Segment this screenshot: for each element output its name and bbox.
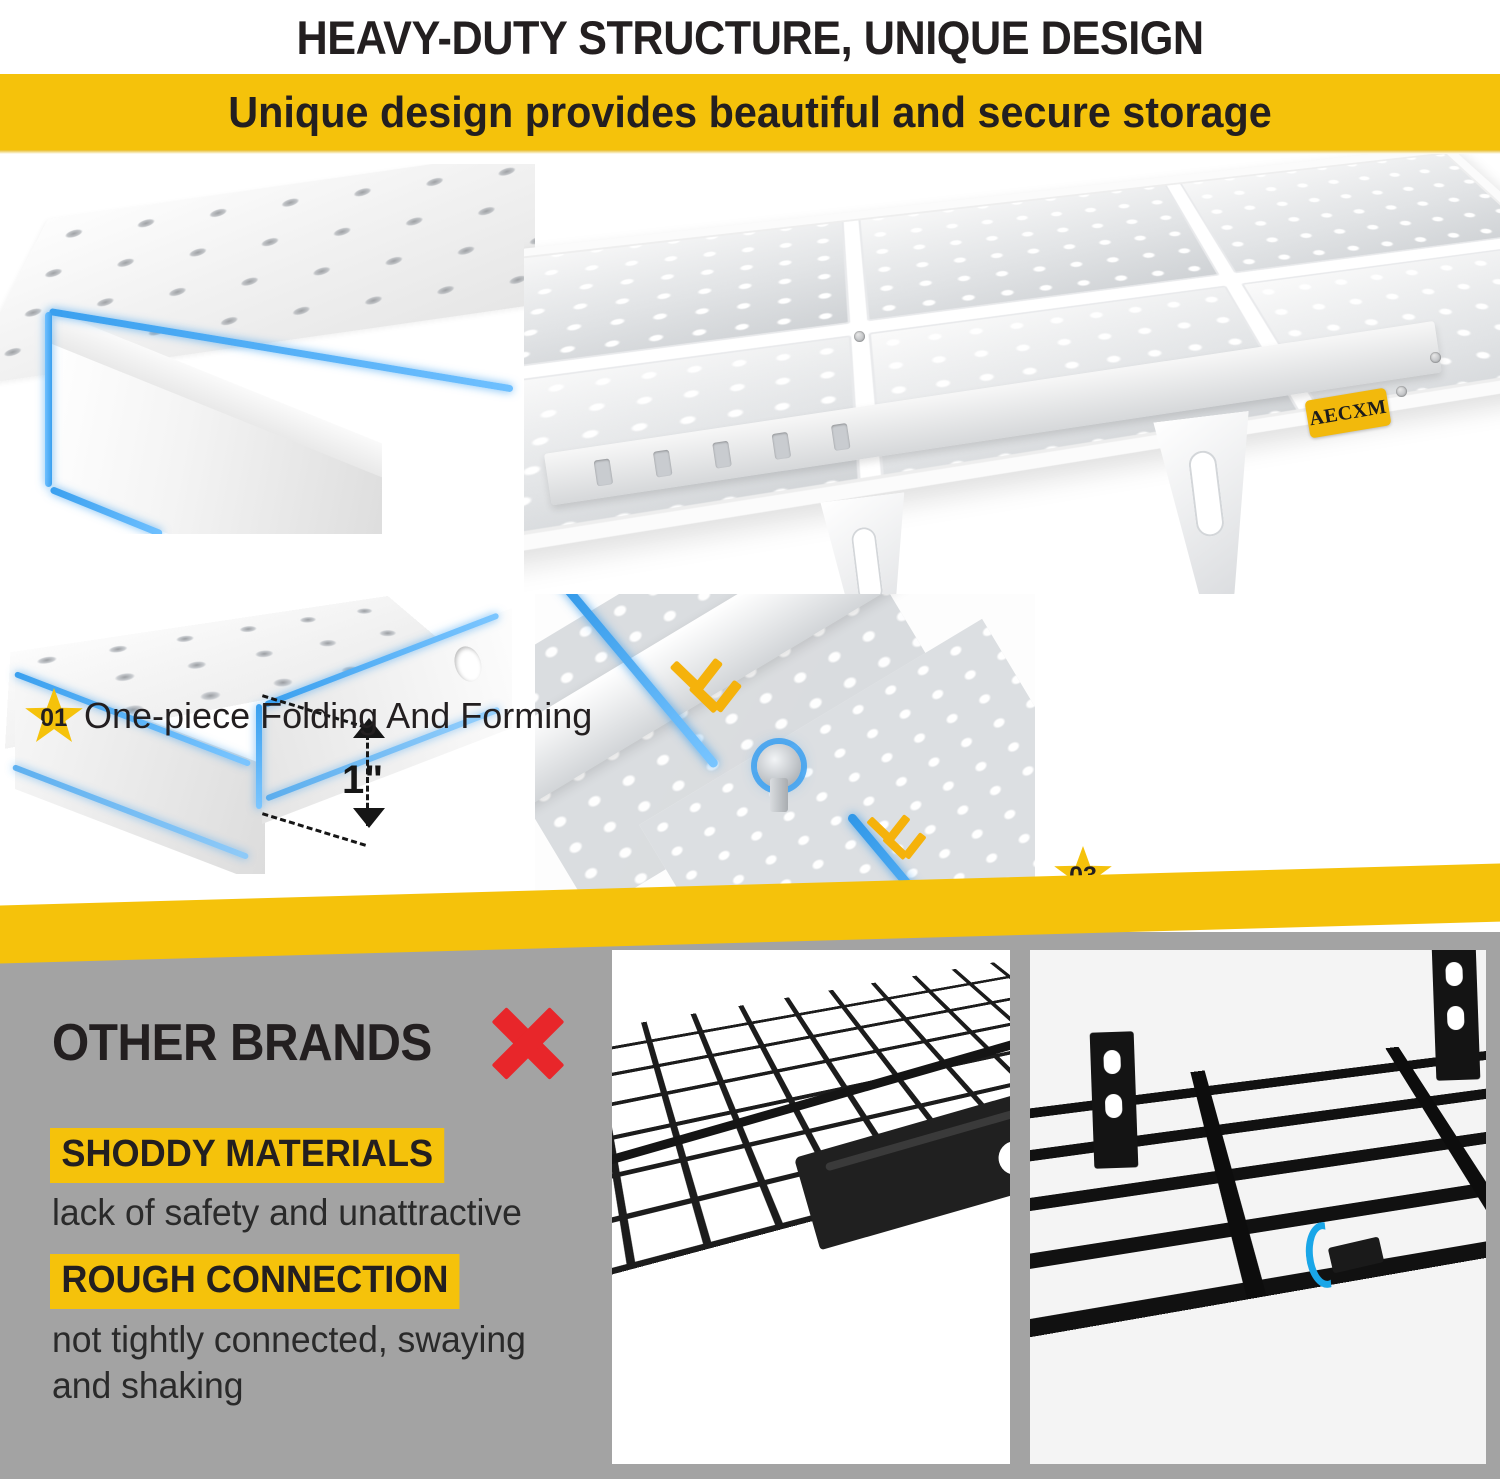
competitor-image-wire-mesh [612, 950, 1010, 1464]
rail-slot [594, 458, 614, 486]
wall-bracket [1090, 1031, 1139, 1168]
dimension-arrow-down-icon [353, 808, 385, 828]
rail-slot [653, 450, 673, 478]
comparison-detail-1: lack of safety and unattractive [52, 1190, 590, 1236]
bolt-connector [757, 744, 801, 788]
comparison-title-text: OTHER BRANDS [52, 1013, 432, 1073]
feature-label-01: One-piece Folding And Forming [84, 695, 592, 737]
support-bracket [820, 492, 923, 594]
rail-slot [831, 423, 851, 451]
comparison-detail-2: not tightly connected, swaying and shaki… [52, 1317, 590, 1410]
dimension-extension-line [262, 812, 366, 846]
screw-icon [1396, 386, 1407, 397]
blue-highlight-edge [45, 312, 52, 487]
header-title-text: HEAVY-DUTY STRUCTURE, UNIQUE DESIGN [296, 10, 1203, 65]
comparison-headline-1: SHODDY MATERIALS [50, 1128, 445, 1183]
comparison-headline-2: ROUGH CONNECTION [50, 1254, 460, 1309]
rail-slot [712, 441, 732, 469]
comparison-title: OTHER BRANDS [52, 1004, 567, 1082]
x-mark-icon [489, 1004, 567, 1082]
features-section: 1" [0, 154, 1500, 914]
brand-badge-label: AECXM [1308, 395, 1389, 431]
feature-image-slide-rail [535, 594, 1035, 914]
bracket-cutout [939, 1233, 1004, 1280]
comparison-section: OTHER BRANDS SHODDY MATERIALS lack of sa… [0, 932, 1500, 1479]
feature-number-01: 01 [40, 704, 68, 733]
header-subtitle-text: Unique design provides beautiful and sec… [228, 88, 1271, 138]
screw-icon [1430, 352, 1441, 363]
header-title: HEAVY-DUTY STRUCTURE, UNIQUE DESIGN [0, 0, 1500, 74]
dimension-value: 1" [342, 758, 383, 803]
rail-slot [772, 432, 792, 460]
wall-bracket [1432, 950, 1481, 1081]
support-bracket [1153, 411, 1270, 594]
competitor-image-bar-rack [1030, 950, 1486, 1464]
hero-product-image: AECXM [524, 154, 1500, 594]
product-infographic: HEAVY-DUTY STRUCTURE, UNIQUE DESIGN Uniq… [0, 0, 1500, 1479]
screw-icon [854, 331, 865, 342]
header-subtitle-band: Unique design provides beautiful and sec… [0, 74, 1500, 152]
feature-image-one-piece-fold [0, 164, 535, 534]
